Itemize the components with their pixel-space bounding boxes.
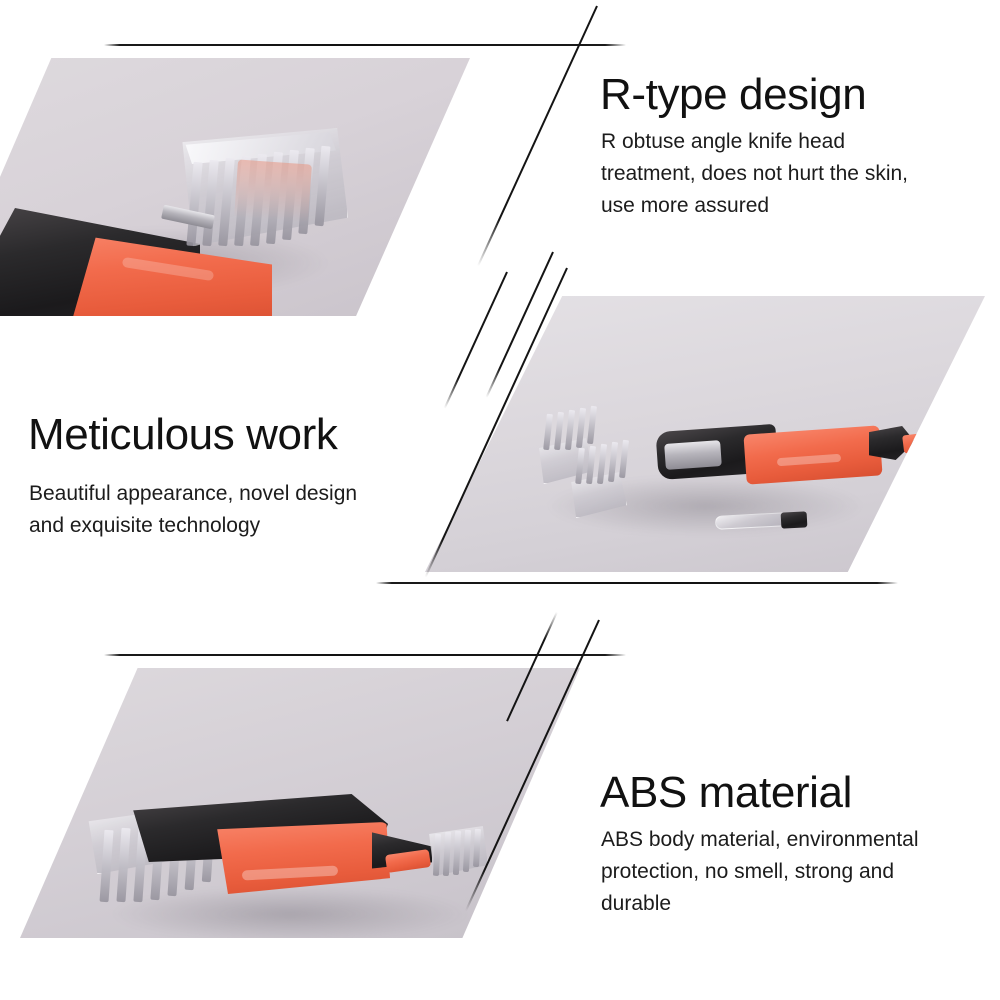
horizontal-rule-top xyxy=(104,44,626,46)
body-line: R obtuse angle knife head xyxy=(601,126,908,158)
accessory-guard-small-1 xyxy=(979,435,985,476)
headline-meticulous: Meticulous work xyxy=(28,412,337,459)
body-line: ABS body material, environmental xyxy=(601,824,919,856)
body-meticulous: Beautiful appearance, novel design and e… xyxy=(29,478,357,542)
diagonal-divider-4 xyxy=(444,272,508,409)
horizontal-rule-bottom xyxy=(104,654,626,656)
blade-tint xyxy=(234,159,312,222)
body-line: Beautiful appearance, novel design xyxy=(29,478,357,510)
body-line: use more assured xyxy=(601,190,908,222)
body-abs: ABS body material, environmental protect… xyxy=(601,824,919,920)
body-line: and exquisite technology xyxy=(29,510,357,542)
headline-r-type: R-type design xyxy=(600,72,866,119)
kit-nose-tip xyxy=(902,429,962,454)
infographic-page: R-type design R obtuse angle knife head … xyxy=(0,0,1000,1000)
body-r-type: R obtuse angle knife head treatment, doe… xyxy=(601,126,908,222)
headline-abs: ABS material xyxy=(600,770,852,817)
abs-grip-orange xyxy=(210,822,390,894)
product-photo-abs xyxy=(20,668,580,938)
body-line: durable xyxy=(601,888,919,920)
horizontal-rule-middle xyxy=(376,582,898,584)
body-line: treatment, does not hurt the skin, xyxy=(601,158,908,190)
product-photo-kit xyxy=(425,296,985,572)
product-photo-r-type xyxy=(0,58,470,316)
kit-blade-silver xyxy=(664,440,722,470)
body-line: protection, no smell, strong and xyxy=(601,856,919,888)
